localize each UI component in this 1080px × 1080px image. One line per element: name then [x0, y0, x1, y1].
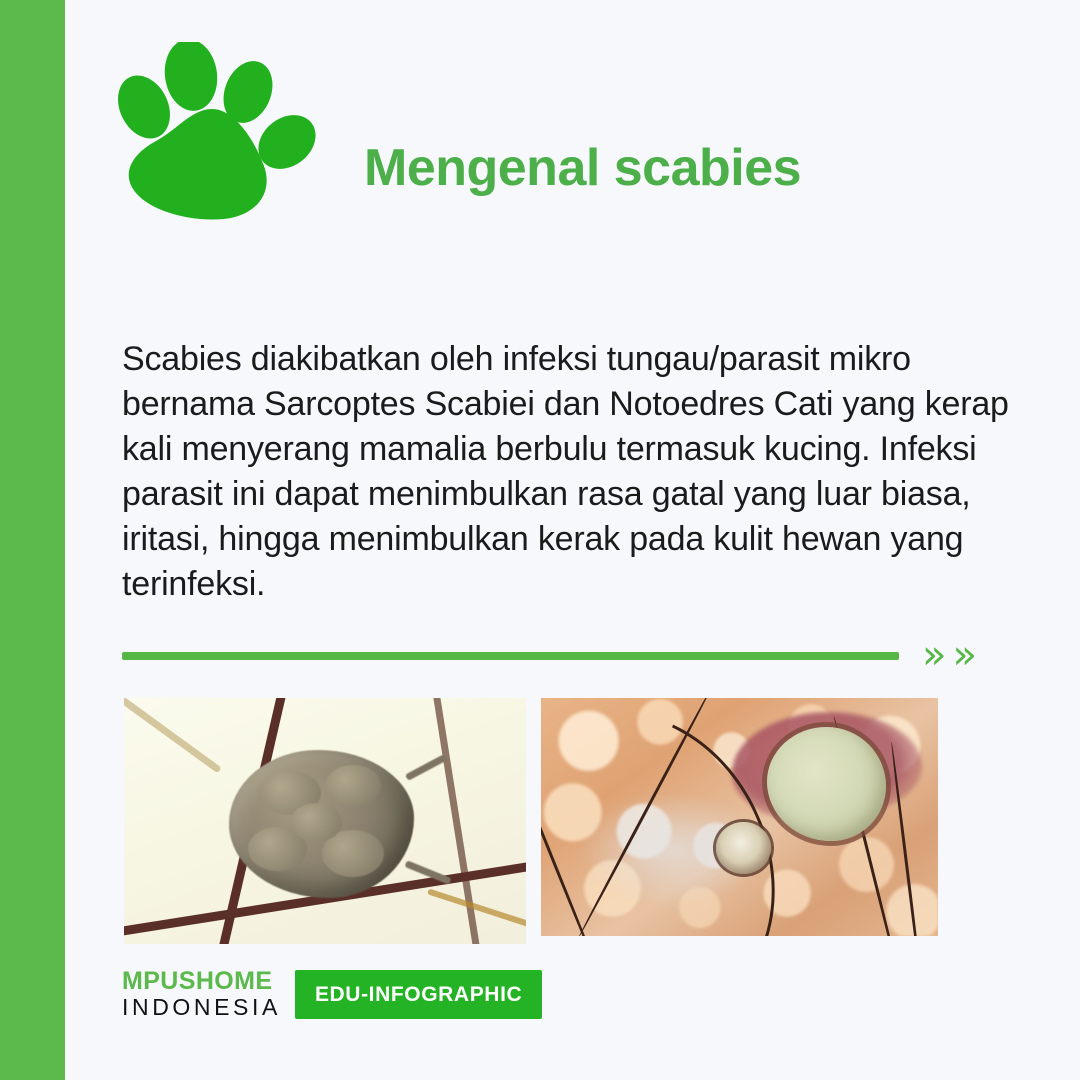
brand-name: MPUSHOME [122, 968, 281, 994]
microscope-mite-photo [124, 698, 526, 944]
dermoscopy-skin-photo [541, 698, 938, 936]
page-title: Mengenal scabies [364, 138, 801, 198]
divider-row: » » [122, 644, 980, 674]
divider-line [122, 652, 899, 660]
mite-head [716, 822, 772, 874]
left-accent-bar [0, 0, 65, 1080]
paw-print-icon [112, 42, 324, 222]
mite-body [767, 727, 886, 841]
infographic-canvas: Mengenal scabies Scabies diakibatkan ole… [0, 0, 1080, 1080]
mite-body [229, 750, 414, 898]
swipe-chevrons: » » [922, 635, 977, 675]
brand-region: INDONESIA [122, 994, 281, 1020]
body-paragraph: Scabies diakibatkan oleh infeksi tungau/… [122, 337, 1012, 607]
footer: MPUSHOME INDONESIA EDU-INFOGRAPHIC [122, 963, 542, 1025]
chevron-right-icon-1: » [922, 635, 946, 675]
brand-logo: MPUSHOME INDONESIA [122, 968, 281, 1020]
edu-infographic-badge: EDU-INFOGRAPHIC [295, 970, 542, 1019]
chevron-right-icon-2: » [952, 635, 976, 675]
hair-strand [124, 698, 222, 773]
header: Mengenal scabies [112, 42, 872, 222]
